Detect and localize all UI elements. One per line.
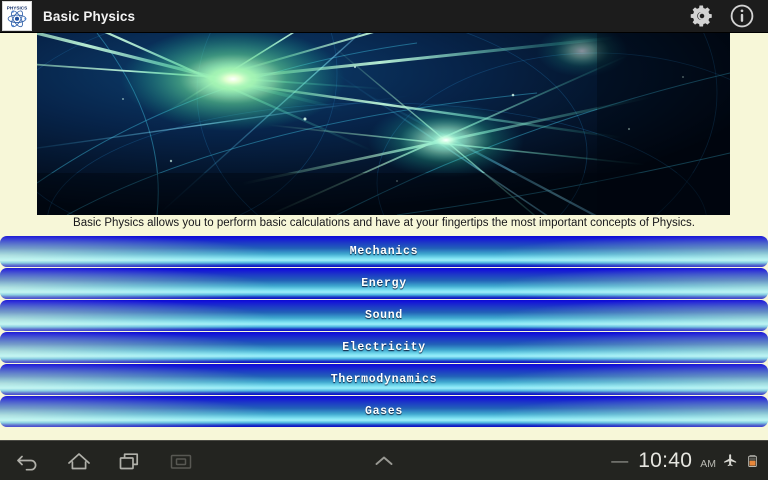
titlebar-actions bbox=[689, 3, 755, 29]
menu-button-label: Energy bbox=[361, 277, 407, 290]
menu-button-sound[interactable]: Sound bbox=[0, 300, 768, 331]
page-title: Basic Physics bbox=[43, 9, 135, 24]
battery-icon bbox=[745, 451, 760, 470]
menu-button-mechanics[interactable]: Mechanics bbox=[0, 236, 768, 267]
menu-button-electricity[interactable]: Electricity bbox=[0, 332, 768, 363]
home-icon[interactable] bbox=[65, 447, 93, 475]
physics-atom-app-icon[interactable]: PHYSICS bbox=[2, 1, 32, 31]
status-dash: — bbox=[611, 452, 628, 469]
system-navigation-bar: — 10:40 AM bbox=[0, 440, 768, 480]
screenshot-icon[interactable] bbox=[167, 447, 195, 475]
expand-statusbar-handle[interactable] bbox=[370, 447, 398, 475]
app-screen: PHYSICS Basic Physics bbox=[0, 0, 768, 480]
menu-button-thermodynamics[interactable]: Thermodynamics bbox=[0, 364, 768, 395]
menu-button-label: Electricity bbox=[342, 341, 426, 354]
info-icon[interactable] bbox=[729, 3, 755, 29]
menu-button-energy[interactable]: Energy bbox=[0, 268, 768, 299]
back-arrow-icon[interactable] bbox=[14, 447, 42, 475]
menu-button-label: Sound bbox=[365, 309, 403, 322]
menu-button-label: Mechanics bbox=[350, 245, 418, 258]
gear-icon[interactable] bbox=[689, 3, 715, 29]
title-bar: PHYSICS Basic Physics bbox=[0, 0, 768, 33]
clock-time: 10:40 bbox=[638, 450, 692, 471]
svg-text:PHYSICS: PHYSICS bbox=[7, 5, 27, 10]
recent-apps-icon[interactable] bbox=[116, 447, 144, 475]
nav-buttons-group bbox=[14, 447, 195, 475]
menu-button-gases[interactable]: Gases bbox=[0, 396, 768, 427]
clock-ampm: AM bbox=[700, 459, 716, 470]
menu-button-label: Gases bbox=[365, 405, 403, 418]
airplane-mode-icon bbox=[723, 451, 738, 470]
banner-image bbox=[37, 33, 730, 215]
category-menu: Mechanics Energy Sound Electricity Therm… bbox=[0, 236, 768, 428]
status-area[interactable]: — 10:40 AM bbox=[611, 450, 760, 471]
chevron-up-icon[interactable] bbox=[370, 447, 398, 475]
app-description: Basic Physics allows you to perform basi… bbox=[0, 217, 768, 229]
menu-button-label: Thermodynamics bbox=[331, 373, 437, 386]
